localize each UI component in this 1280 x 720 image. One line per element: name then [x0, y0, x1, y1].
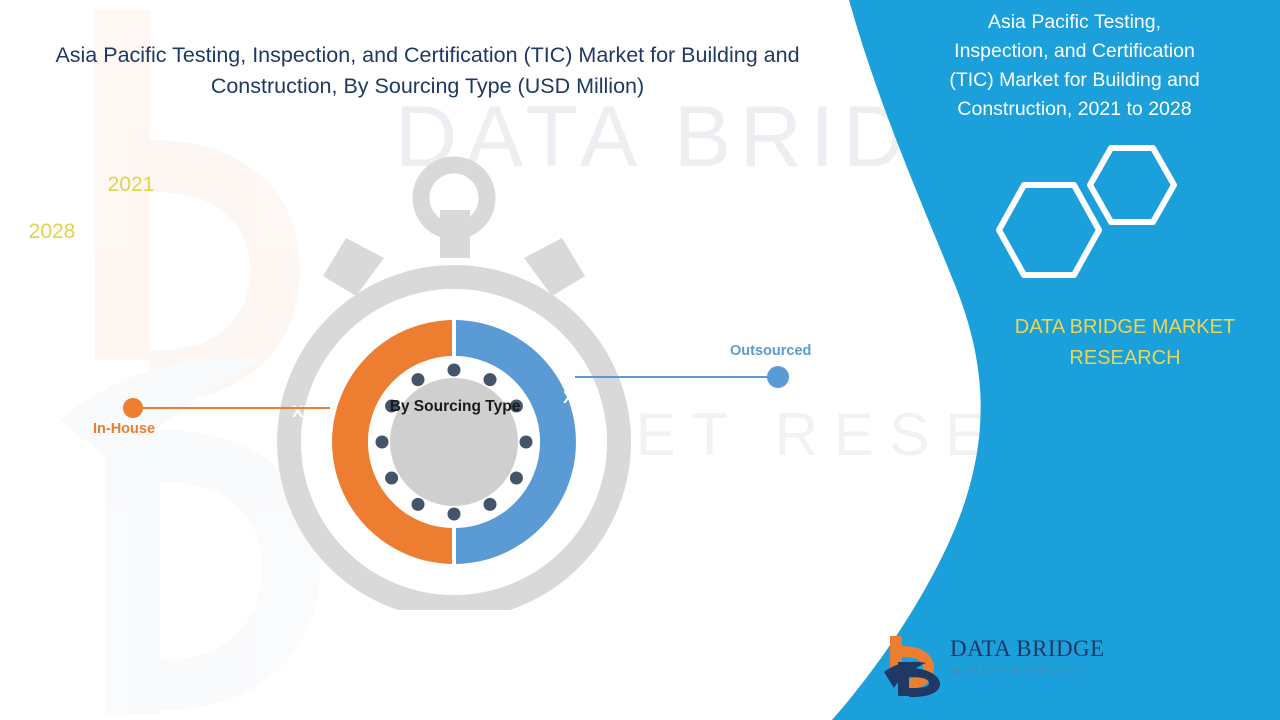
value-label-in-house: XX% — [292, 402, 330, 422]
badge-year-2021: 2021 — [96, 173, 166, 197]
panel-title-line1: Asia Pacific Testing, — [912, 8, 1237, 37]
stopwatch-crown-icon — [421, 165, 487, 258]
panel-brand-line1: DATA BRIDGE MARKET — [975, 312, 1275, 343]
panel-title: Asia Pacific Testing, Inspection, and Ce… — [912, 8, 1237, 123]
callout-label-in-house: In-House — [93, 421, 155, 437]
page-title: Asia Pacific Testing, Inspection, and Ce… — [20, 40, 835, 102]
page-title-line1: Asia Pacific Testing, Inspection, and Ce… — [55, 43, 757, 67]
panel-brand-line2: RESEARCH — [975, 343, 1275, 374]
panel-title-line2: Inspection, and Certification — [912, 37, 1237, 66]
badge-year-2028: 2028 — [17, 220, 87, 244]
logo-divider — [951, 663, 1090, 664]
logo-subtitle: MARKET RESEARCH — [952, 666, 1088, 676]
panel-title-line3: (TIC) Market for Building and — [912, 66, 1237, 95]
panel-brand-text: DATA BRIDGE MARKET RESEARCH — [975, 312, 1275, 374]
year-badges — [980, 140, 1200, 290]
hexagon-2021-shape — [1090, 148, 1174, 222]
value-label-outsourced: XX% — [563, 388, 601, 408]
logo-title: DATA BRIDGE — [950, 636, 1105, 662]
donut-chart — [262, 150, 652, 610]
callout-label-outsourced: Outsourced — [730, 343, 811, 359]
infographic-canvas: DATA BRIDGE MARKET RESEARCH Asia Pacific… — [0, 0, 1280, 720]
hexagon-outline-icons — [980, 140, 1200, 290]
donut-center-label: By Sourcing Type — [355, 398, 555, 416]
brand-logo: DATA BRIDGE MARKET RESEARCH — [880, 630, 1100, 700]
hexagon-2028-shape — [999, 185, 1099, 275]
panel-title-line4: Construction, 2021 to 2028 — [912, 95, 1237, 124]
data-bridge-b-logo-icon — [880, 632, 950, 698]
